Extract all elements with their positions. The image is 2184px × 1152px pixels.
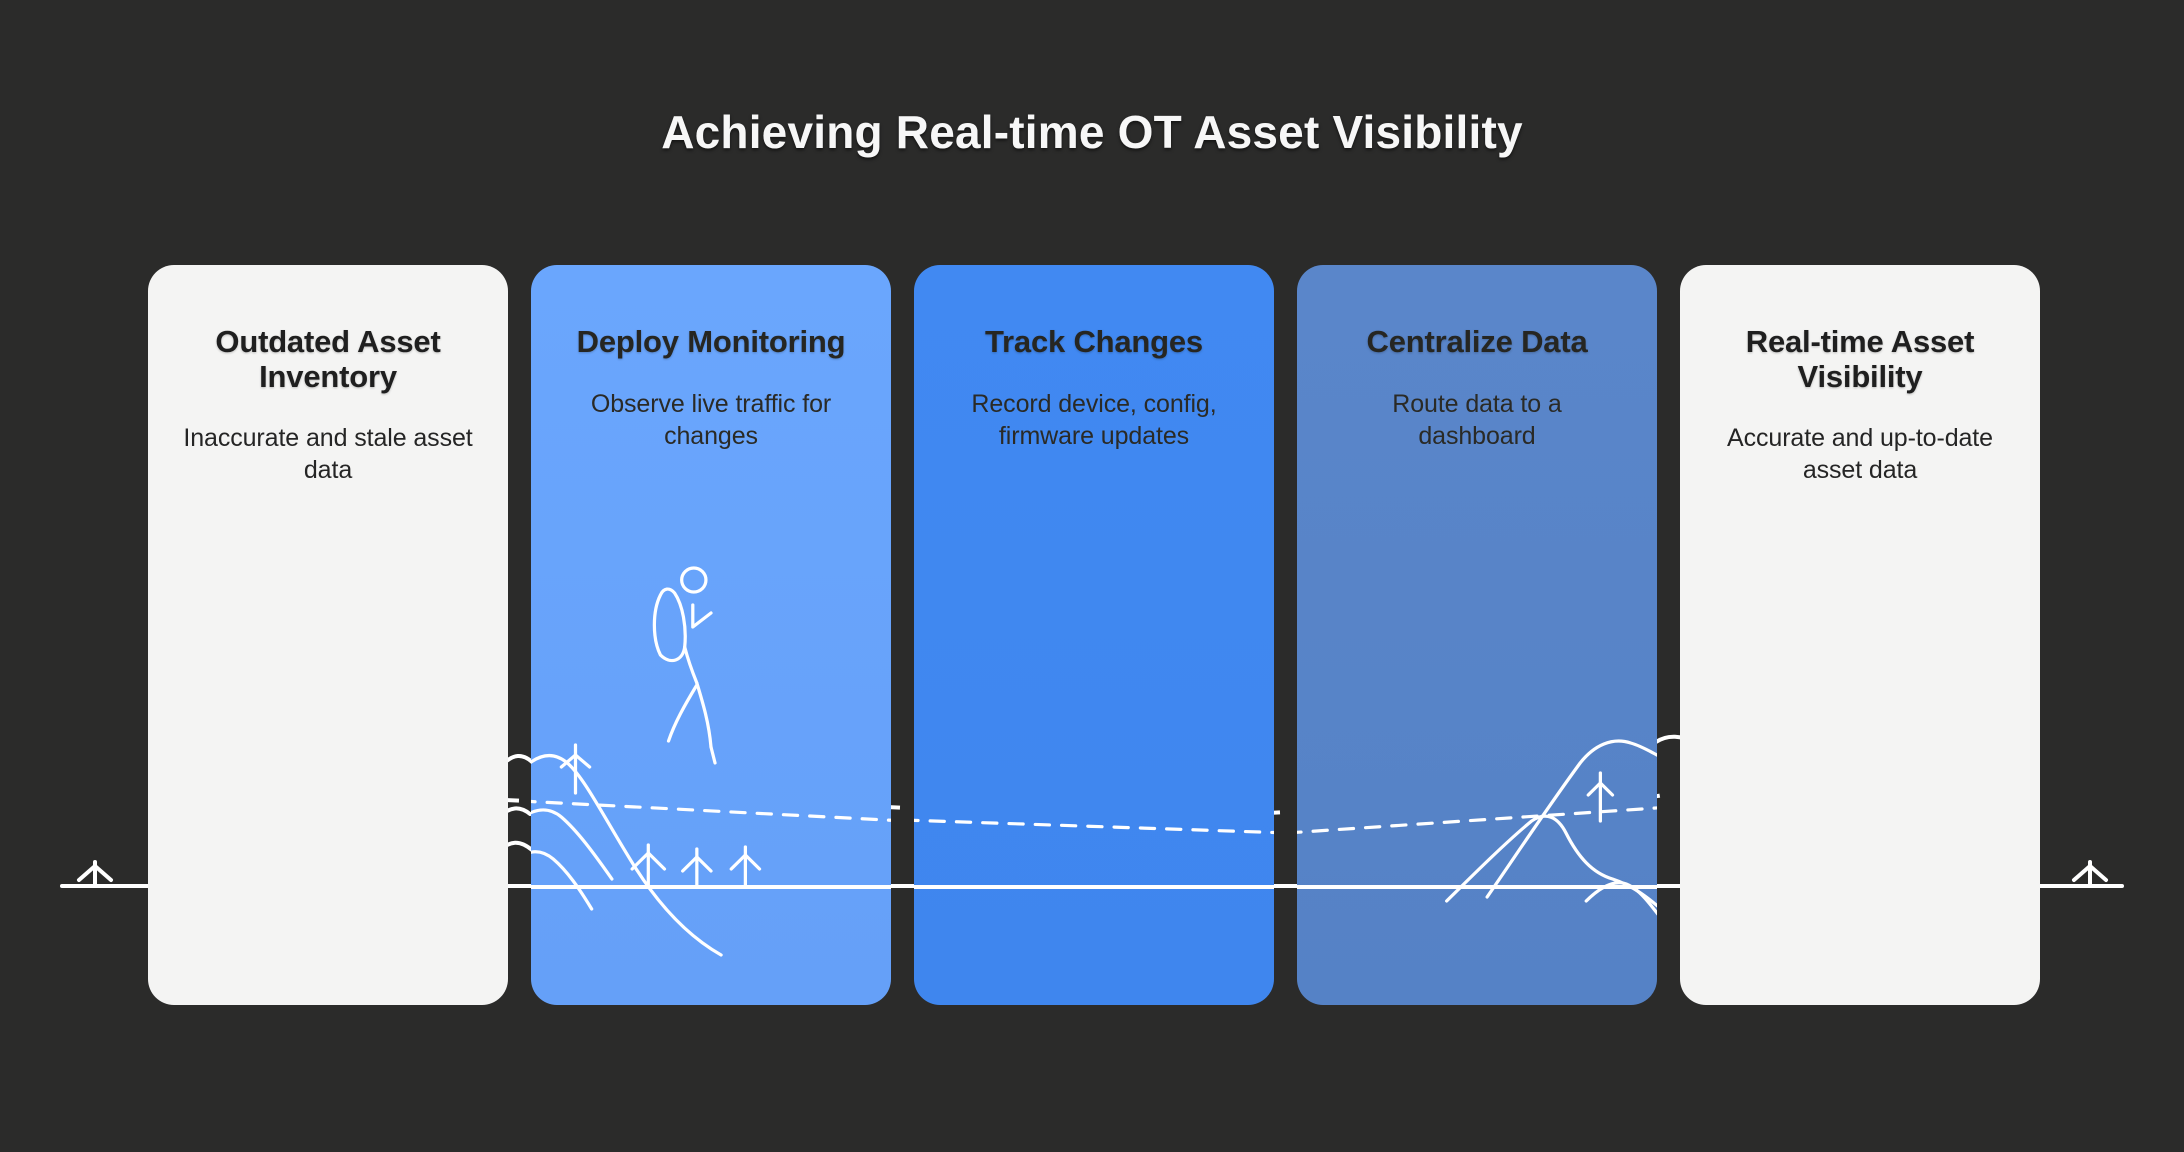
- plant-icon: [2074, 862, 2106, 886]
- card-body: Observe live traffic for changes: [565, 388, 857, 452]
- card-body: Inaccurate and stale asset data: [182, 422, 474, 486]
- card-heading: Outdated Asset Inventory: [182, 325, 474, 394]
- page-title: Achieving Real-time OT Asset Visibility: [0, 105, 2184, 159]
- plant-icon: [1588, 773, 1612, 821]
- hiker-icon: [685, 647, 697, 683]
- card-heading: Centralize Data: [1331, 325, 1623, 360]
- backpack-icon: [654, 589, 685, 660]
- mountain-slope-icon: [1586, 883, 1657, 921]
- mountain-peak-icon: [1487, 741, 1657, 897]
- card-centralize-data[interactable]: Centralize Data Route data to a dashboar…: [1297, 265, 1657, 1005]
- plant-icon: [683, 849, 711, 887]
- card-row: Outdated Asset Inventory Inaccurate and …: [148, 265, 2040, 1005]
- hiker-icon: [682, 568, 706, 592]
- hiker-icon: [697, 683, 711, 747]
- infographic-canvas: Outdated Asset Inventory Inaccurate and …: [0, 0, 2184, 1152]
- plant-icon: [561, 745, 589, 793]
- card-body: Route data to a dashboard: [1331, 388, 1623, 452]
- card-body: Record device, config, firmware updates: [948, 388, 1240, 452]
- hiker-icon: [669, 685, 697, 741]
- card-body: Accurate and up-to-date asset data: [1714, 422, 2006, 486]
- card-outdated-asset-inventory[interactable]: Outdated Asset Inventory Inaccurate and …: [148, 265, 508, 1005]
- mountain-peak-icon: [1447, 816, 1657, 909]
- card-heading: Deploy Monitoring: [565, 325, 857, 360]
- plant-icon: [79, 862, 111, 886]
- dashed-trail-icon: [1297, 807, 1657, 833]
- card-heading: Track Changes: [948, 325, 1240, 360]
- mountain-slope-icon: [531, 852, 592, 909]
- card-real-time-asset-visibility[interactable]: Real-time Asset Visibility Accurate and …: [1680, 265, 2040, 1005]
- mountain-slope-icon: [531, 756, 721, 955]
- dashed-trail-icon: [531, 801, 891, 821]
- hiker-icon: [711, 747, 715, 763]
- plant-icon: [731, 847, 759, 887]
- plant-icon: [632, 845, 664, 887]
- card-heading: Real-time Asset Visibility: [1714, 325, 2006, 394]
- hiker-icon: [693, 605, 711, 627]
- mountain-slope-icon: [531, 810, 612, 879]
- card-track-changes[interactable]: Track Changes Record device, config, fir…: [914, 265, 1274, 1005]
- dashed-trail-icon: [914, 820, 1274, 833]
- card-deploy-monitoring[interactable]: Deploy Monitoring Observe live traffic f…: [531, 265, 891, 1005]
